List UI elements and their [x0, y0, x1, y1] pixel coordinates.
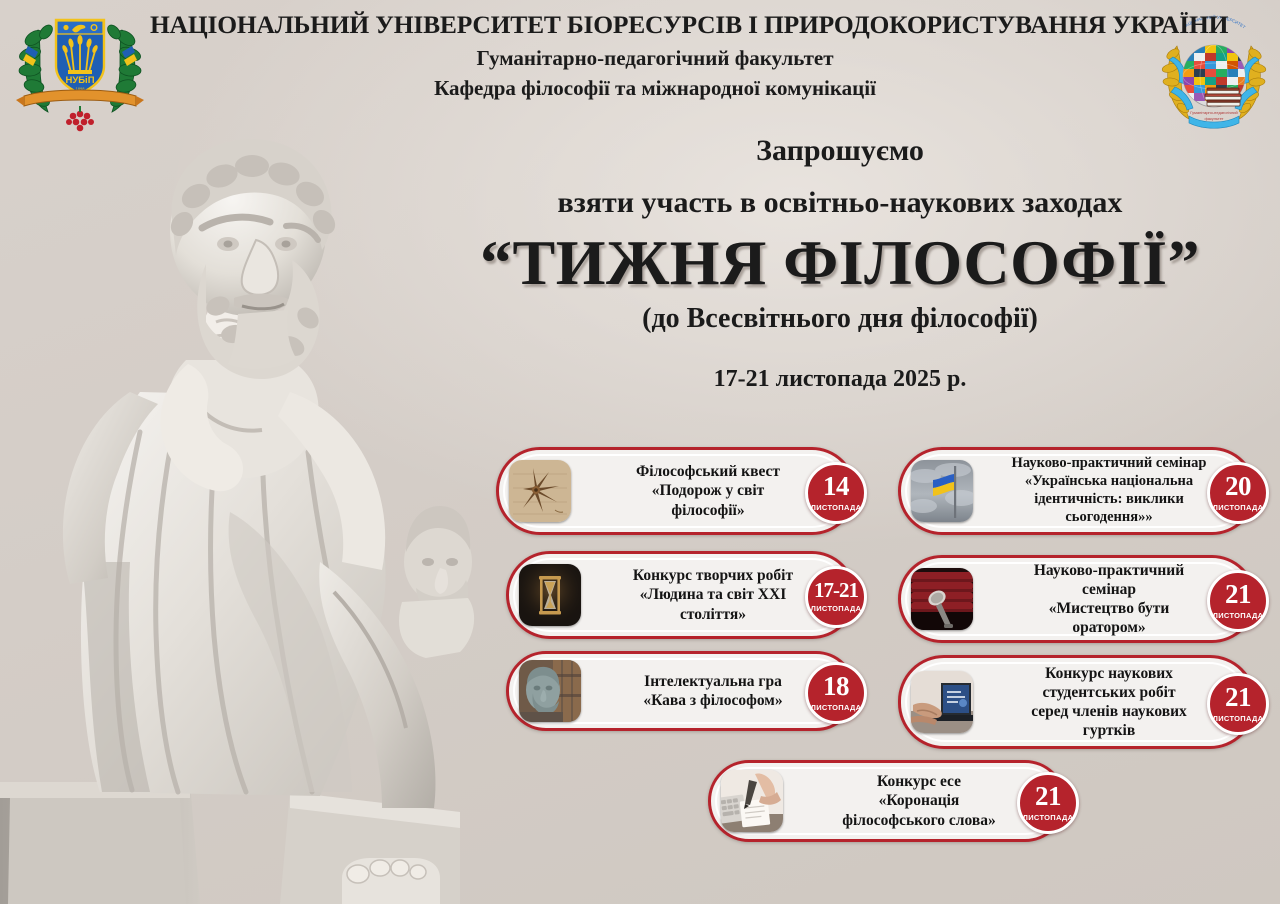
department-name: Кафедра філософії та міжнародної комунік…: [150, 76, 1160, 101]
badge-day: 20: [1225, 474, 1251, 500]
philosopher-bust-icon: [519, 660, 581, 722]
label-line: оратором»: [979, 618, 1239, 637]
label-line: «Подорож у світ: [577, 481, 839, 500]
event-card-label: Конкурс наукових студентських робіт сере…: [973, 664, 1245, 741]
event-title: “ТИЖНЯ ФІЛОСОФІЇ”: [460, 227, 1220, 299]
event-card-label: Конкурс есе «Коронація філософського сло…: [783, 772, 1055, 830]
date-badge: 14 ЛИСТОПАДА: [805, 462, 867, 524]
label-line: століття»: [587, 605, 839, 624]
microphone-auditorium-icon: [911, 568, 973, 630]
label-line: Науково-практичний: [979, 561, 1239, 580]
invitation-line-2: взяти участь в освітньо-наукових заходах: [460, 184, 1220, 222]
compass-rose-map-icon: [509, 460, 571, 522]
event-card-creative-works-contest[interactable]: Конкурс творчих робіт «Людина та світ XX…: [506, 551, 856, 639]
label-line: Конкурс наукових: [979, 664, 1239, 683]
date-badge: 21 ЛИСТОПАДА: [1207, 673, 1269, 735]
badge-month: ЛИСТОПАДА: [811, 503, 862, 512]
event-card-label: Філософський квест «Подорож у світ філос…: [571, 462, 845, 520]
event-card-seminar-oratory[interactable]: Науково-практичний семінар «Мистецтво бу…: [898, 555, 1256, 643]
badge-day: 17-21: [814, 581, 858, 601]
ukrainian-flag-icon: [911, 460, 973, 522]
label-line: сьогодення»»: [979, 509, 1239, 527]
badge-day: 21: [1225, 685, 1251, 711]
label-line: «Кава з філософом»: [587, 691, 839, 710]
event-dates: 17-21 листопада 2025 р.: [460, 364, 1220, 394]
badge-day: 21: [1225, 582, 1251, 608]
poster-header: НАЦІОНАЛЬНИЙ УНІВЕРСИТЕТ БІОРЕСУРСІВ І П…: [150, 10, 1160, 101]
university-name: НАЦІОНАЛЬНИЙ УНІВЕРСИТЕТ БІОРЕСУРСІВ І П…: [150, 10, 1160, 40]
label-line: гуртків: [979, 721, 1239, 740]
badge-day: 21: [1035, 784, 1061, 810]
date-badge: 18 ЛИСТОПАДА: [805, 662, 867, 724]
badge-month: ЛИСТОПАДА: [1023, 813, 1074, 822]
label-line: «Мистецтво бути: [979, 599, 1239, 618]
label-line: «Українська національна: [979, 473, 1239, 491]
label-line: філософського слова»: [789, 811, 1049, 830]
event-card-intellectual-game[interactable]: Інтелектуальна гра «Кава з філософом» 18…: [506, 651, 856, 731]
philosophy-week-poster: НУБіП 1898 НАЦІОНАЛЬНИЙ УНІВЕРСИТ: [0, 0, 1280, 904]
event-card-label: Науково-практичний семінар «Мистецтво бу…: [973, 561, 1245, 638]
label-line: Філософський квест: [577, 462, 839, 481]
event-card-label: Науково-практичний семінар «Українська н…: [973, 455, 1245, 527]
invitation-block: Запрошуємо взяти участь в освітньо-науко…: [460, 132, 1220, 394]
event-card-essay-contest[interactable]: Конкурс есе «Коронація філософського сло…: [708, 760, 1066, 842]
badge-day: 18: [823, 674, 849, 700]
event-card-philosophical-quest[interactable]: Філософський квест «Подорож у світ філос…: [496, 447, 856, 535]
badge-month: ЛИСТОПАДА: [1213, 714, 1264, 723]
writing-notebook-icon: [721, 770, 783, 832]
invitation-line-1: Запрошуємо: [460, 132, 1220, 170]
label-line: Конкурс есе: [789, 772, 1049, 791]
badge-month: ЛИСТОПАДА: [811, 703, 862, 712]
hourglass-icon: [519, 564, 581, 626]
event-subtitle: (до Всесвітнього дня філософії): [460, 301, 1220, 336]
label-line: семінар: [979, 580, 1239, 599]
label-line: серед членів наукових: [979, 702, 1239, 721]
label-line: Науково-практичний семінар: [979, 455, 1239, 473]
label-line: «Людина та світ XXI: [587, 585, 839, 604]
badge-month: ЛИСТОПАДА: [1213, 503, 1264, 512]
event-card-seminar-national-identity[interactable]: Науково-практичний семінар «Українська н…: [898, 447, 1256, 535]
date-badge: 17-21 ЛИСТОПАДА: [805, 566, 867, 628]
date-badge: 21 ЛИСТОПАДА: [1207, 570, 1269, 632]
event-card-student-research-contest[interactable]: Конкурс наукових студентських робіт сере…: [898, 655, 1256, 749]
date-badge: 20 ЛИСТОПАДА: [1207, 462, 1269, 524]
badge-month: ЛИСТОПАДА: [811, 604, 862, 613]
label-line: Інтелектуальна гра: [587, 672, 839, 691]
badge-day: 14: [823, 474, 849, 500]
label-line: ідентичність: виклики: [979, 491, 1239, 509]
label-line: «Коронація: [789, 791, 1049, 810]
label-line: Конкурс творчих робіт: [587, 566, 839, 585]
label-line: студентських робіт: [979, 683, 1239, 702]
faculty-name: Гуманітарно-педагогічний факультет: [150, 46, 1160, 71]
label-line: філософії»: [577, 501, 839, 520]
date-badge: 21 ЛИСТОПАДА: [1017, 772, 1079, 834]
badge-month: ЛИСТОПАДА: [1213, 611, 1264, 620]
laptop-typing-icon: [911, 671, 973, 733]
